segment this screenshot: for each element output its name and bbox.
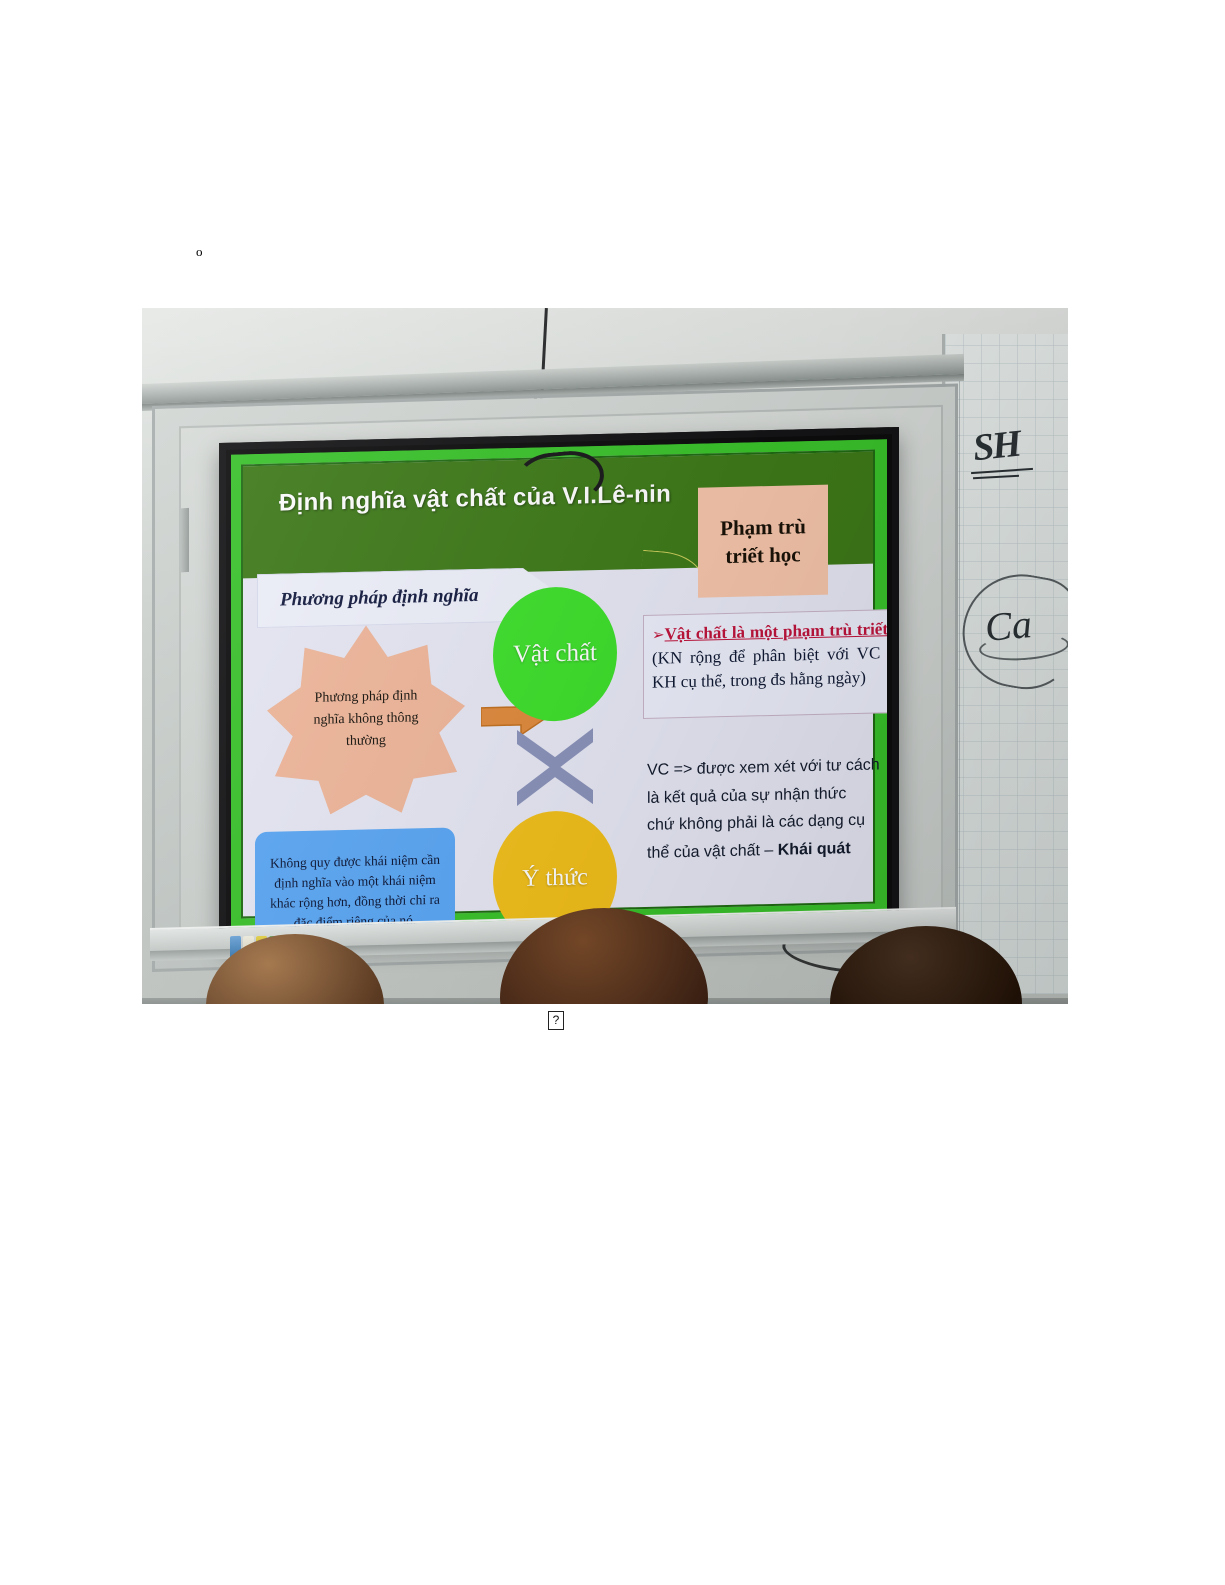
circle-vat-chat: Vật chất [493, 586, 617, 723]
blue-note-box: Không quy được khái niệm cần định nghĩa … [255, 827, 455, 930]
definition-lead: Vật chất là một [665, 622, 783, 644]
blue-note-text: Không quy được khái niệm cần định nghĩa … [264, 849, 446, 931]
x-mark-icon [511, 726, 599, 808]
circle-y-thuc-label: Ý thức [522, 864, 588, 893]
whiteboard-panel: SH Ca [942, 334, 1068, 994]
vc-line-4-bold: Khái quát [778, 840, 851, 859]
whiteboard-handwriting-ca: Ca [983, 600, 1034, 651]
circle-vat-chat-label: Vật chất [513, 639, 597, 670]
frame-post-left [181, 508, 189, 572]
pham-tru-triet-hoc-box: Phạm trù triết học [698, 485, 828, 598]
vc-line-1: VC => được xem xét với tư cách [647, 750, 887, 785]
tv-screen: Định nghĩa vật chất của V.I.Lê-nin Phạm … [231, 439, 887, 930]
caption-missing-glyph: ? [548, 1011, 564, 1030]
definition-emphasis: phạm trù triết học: [783, 618, 887, 640]
banner-label: Phương pháp định nghĩa [258, 585, 478, 612]
slide-body: Định nghĩa vật chất của V.I.Lê-nin Phạm … [241, 450, 875, 919]
pham-tru-line-2: triết học [725, 540, 800, 570]
definition-rest: (KN rộng để phân biệt với VC trong KH cụ… [652, 643, 887, 693]
whiteboard-handwriting-sh: SH [971, 422, 1022, 471]
bullet-glyph: o [196, 244, 203, 259]
whiteboard-seam [959, 374, 960, 974]
pham-tru-line-1: Phạm trù [720, 512, 806, 542]
document-bullet: o [196, 245, 203, 260]
presentation-slide: Định nghĩa vật chất của V.I.Lê-nin Phạm … [231, 439, 887, 930]
definition-bullet-icon: ➢ [652, 627, 665, 643]
wall-mounted-tv: Định nghĩa vật chất của V.I.Lê-nin Phạm … [219, 427, 899, 943]
vc-paragraph: VC => được xem xét với tư cách là kết qu… [647, 750, 887, 867]
vc-line-4-plain: thể của vật chất – [647, 841, 778, 861]
star-shape-method: Phương pháp định nghĩa không thông thườn… [267, 623, 465, 816]
document-page: o SH Ca [0, 0, 1225, 1585]
definition-text-box: ➢Vật chất là một phạm trù triết học:(KN … [643, 608, 887, 719]
star-label: Phương pháp định nghĩa không thông thườn… [306, 686, 426, 754]
lecture-photo: SH Ca Định nghĩa vật chất của V.I.Lê-nin [142, 308, 1068, 1004]
